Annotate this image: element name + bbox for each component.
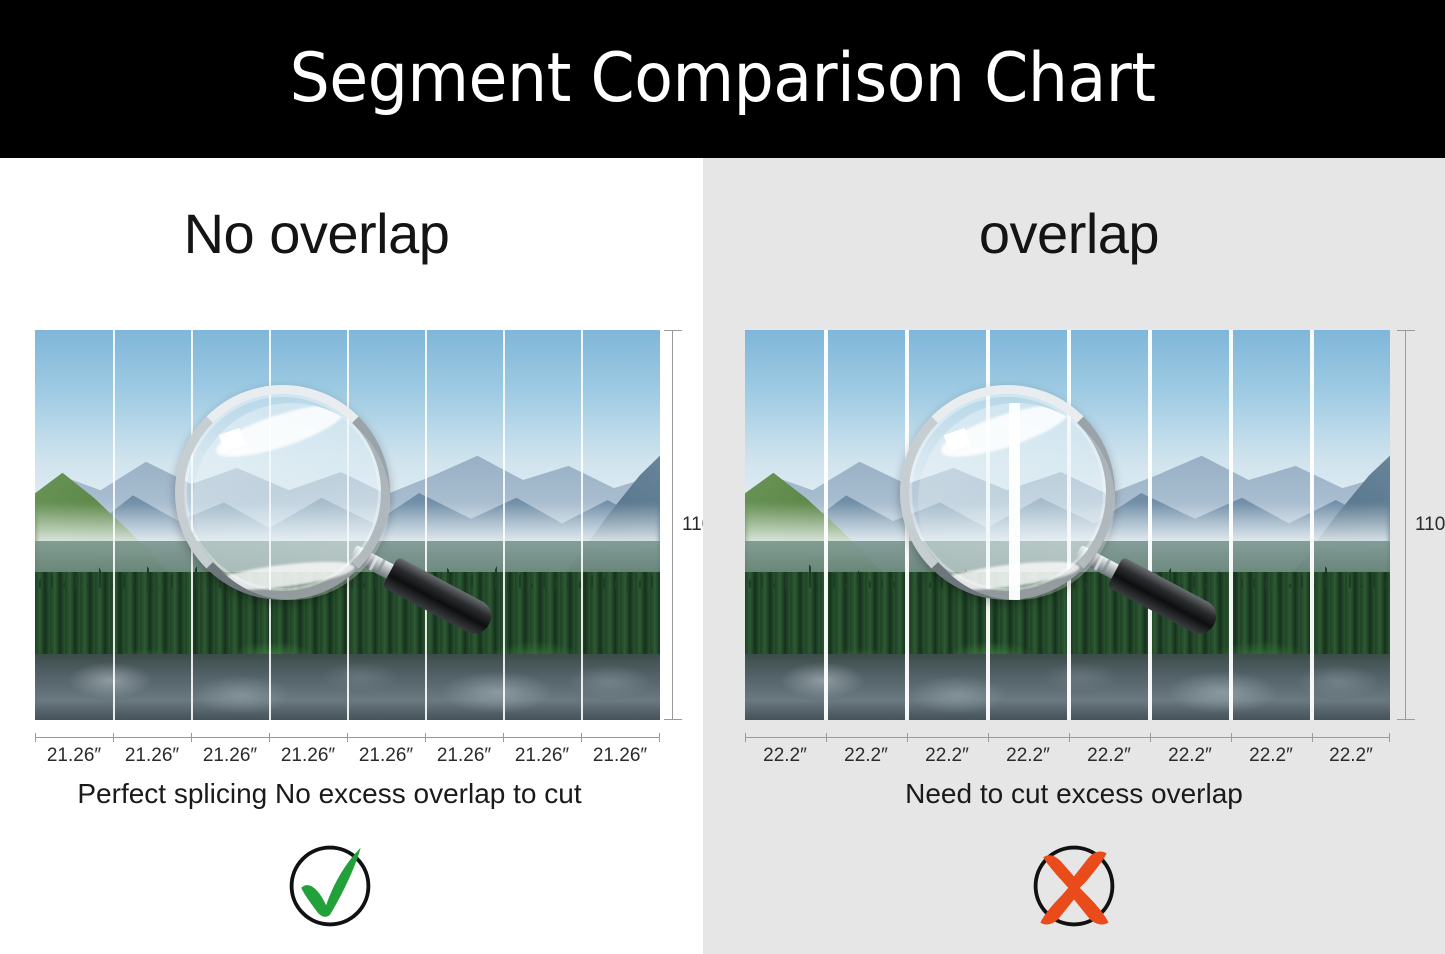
page-title: Segment Comparison Chart [289, 45, 1155, 113]
dimension-cap-bottom [1397, 719, 1415, 720]
mountain-photo-no-overlap [35, 330, 660, 720]
segment-label: 21.26″ [47, 745, 101, 767]
segment-label: 21.26″ [203, 745, 257, 767]
segment-tick [1069, 733, 1070, 742]
photo-block-no-overlap [35, 330, 660, 720]
segment-tick [113, 733, 114, 742]
rock-foreground-layer [35, 654, 660, 720]
segment-tick [191, 733, 192, 742]
dimension-cap-top [664, 330, 682, 331]
panel-no-overlap: No overlap [0, 158, 703, 954]
segment-tick [745, 733, 746, 742]
dimension-line [672, 330, 673, 720]
segment-label: 21.26″ [125, 745, 179, 767]
segment-label: 21.26″ [281, 745, 335, 767]
segment-tick [581, 733, 582, 742]
comparison-panels: No overlap [0, 158, 1445, 954]
segment-tick [1312, 733, 1313, 742]
verdict-overlap [703, 838, 1445, 934]
segment-label: 22.2″ [1249, 745, 1293, 767]
dimension-line [1405, 330, 1406, 720]
segment-label: 22.2″ [1087, 745, 1131, 767]
segment-label: 22.2″ [1329, 745, 1373, 767]
check-icon [282, 838, 378, 934]
panel-heading-no-overlap: No overlap [0, 206, 668, 262]
segment-tick [35, 733, 36, 742]
segment-tick [1150, 733, 1151, 742]
segment-tick [503, 733, 504, 742]
segment-label: 22.2″ [1168, 745, 1212, 767]
dimension-line [745, 737, 1390, 738]
verdict-no-overlap [0, 838, 681, 934]
segment-tick [1389, 733, 1390, 742]
segment-label: 21.26″ [437, 745, 491, 767]
segment-dimension-no-overlap: 21.26″ 21.26″ 21.26″ 21.26″ 21.26″ 21.26… [35, 733, 660, 773]
segment-label: 22.2″ [1006, 745, 1050, 767]
caption-overlap: Need to cut excess overlap [703, 778, 1445, 810]
segment-tick [425, 733, 426, 742]
cross-icon [1026, 838, 1122, 934]
poster-root: Segment Comparison Chart No overlap [0, 0, 1445, 954]
segment-tick [988, 733, 989, 742]
mountain-photo-overlap [745, 330, 1390, 720]
segment-tick [1231, 733, 1232, 742]
panel-heading-overlap: overlap [698, 206, 1440, 262]
segment-label: 22.2″ [763, 745, 807, 767]
segment-label: 21.26″ [515, 745, 569, 767]
segment-tick [269, 733, 270, 742]
segment-label: 22.2″ [925, 745, 969, 767]
height-label-overlap: 110″ [1415, 514, 1445, 536]
title-band: Segment Comparison Chart [0, 0, 1445, 158]
panel-overlap: overlap [703, 158, 1445, 954]
dimension-cap-top [1397, 330, 1415, 331]
caption-no-overlap: Perfect splicing No excess overlap to cu… [0, 778, 681, 810]
segment-dimension-overlap: 22.2″ 22.2″ 22.2″ 22.2″ 22.2″ 22.2″ 22.2… [745, 733, 1390, 773]
photo-block-overlap [745, 330, 1390, 720]
segment-tick [907, 733, 908, 742]
segment-tick [826, 733, 827, 742]
rock-foreground-layer [745, 654, 1390, 720]
segment-label: 21.26″ [593, 745, 647, 767]
dimension-cap-bottom [664, 719, 682, 720]
segment-label: 21.26″ [359, 745, 413, 767]
segment-tick [347, 733, 348, 742]
segment-tick [659, 733, 660, 742]
segment-label: 22.2″ [844, 745, 888, 767]
